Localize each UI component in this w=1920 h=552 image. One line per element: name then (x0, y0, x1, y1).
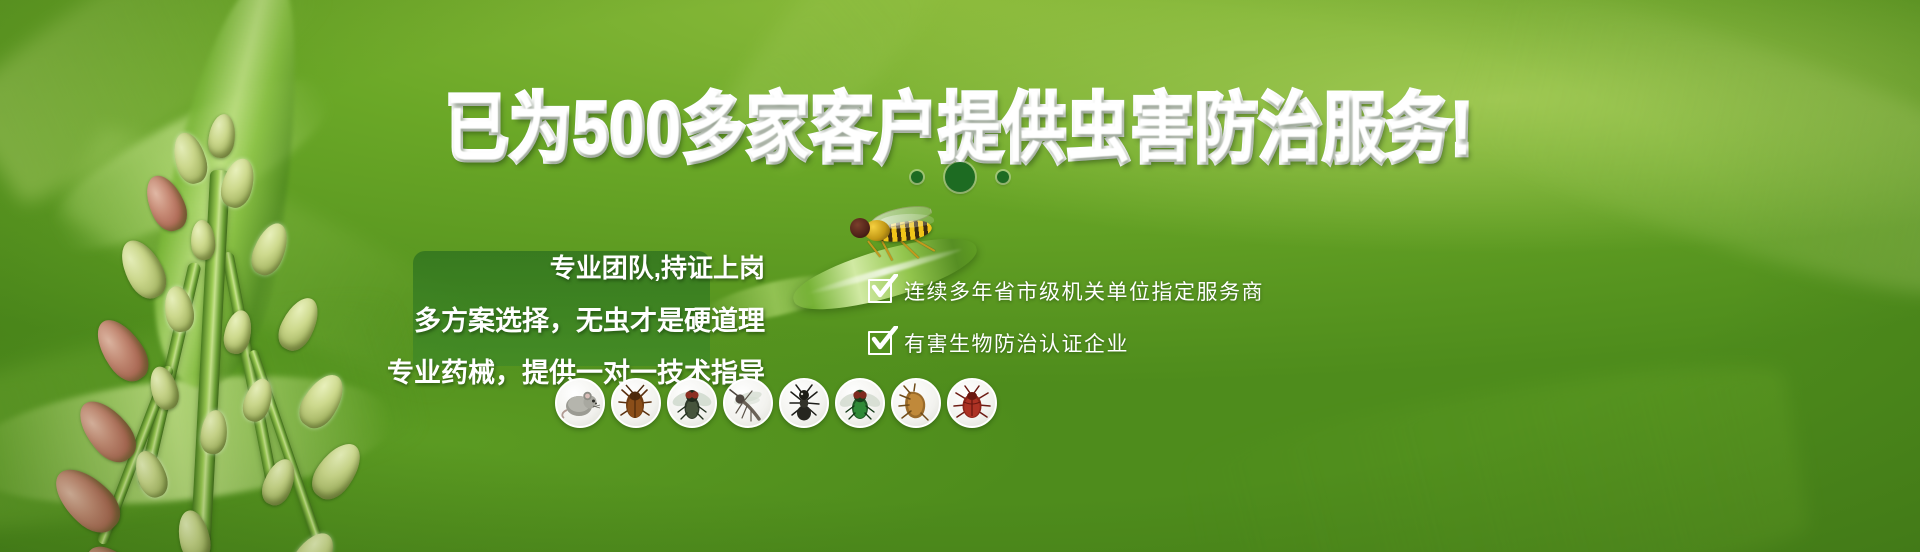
banner-headline-text: 已为500多家客户提供虫害防治服务! (446, 87, 1474, 171)
selling-points-text: 专业团队,持证上岗 多方案选择，无虫才是硬道理 专业药械，提供一对一技术指导 (330, 248, 790, 390)
feature-item-2: 有害生物防治认证企业 (868, 328, 1264, 358)
checkbox-checked-icon (868, 279, 892, 303)
cockroach-icon[interactable] (611, 378, 661, 428)
dot-small-right-icon (997, 171, 1009, 183)
feature-list: 连续多年省市级机关单位指定服务商 有害生物防治认证企业 (868, 276, 1264, 358)
flea-icon[interactable] (891, 378, 941, 428)
feature-label-1: 连续多年省市级机关单位指定服务商 (904, 276, 1264, 306)
ant-icon[interactable] (779, 378, 829, 428)
selling-point-line-1: 专业团队,持证上岗 (550, 248, 765, 285)
mouse-icon[interactable] (555, 378, 605, 428)
selling-point-line-2: 多方案选择，无虫才是硬道理 (414, 299, 765, 338)
banner-headline: 已为500多家客户提供虫害防治服务! (29, 70, 1891, 177)
mosquito-icon[interactable] (723, 378, 773, 428)
feature-item-1: 连续多年省市级机关单位指定服务商 (868, 276, 1264, 306)
dot-large-center-icon (945, 162, 975, 192)
pest-control-banner: 已为500多家客户提供虫害防治服务! 专业团队,持证上岗 多方案选择，无虫才是硬… (0, 0, 1920, 552)
pest-icon-row (555, 378, 997, 428)
blowfly-icon[interactable] (835, 378, 885, 428)
decorative-dots (0, 162, 1920, 192)
fly-icon[interactable] (667, 378, 717, 428)
checkbox-checked-icon (868, 331, 892, 355)
hoverfly-icon (848, 198, 958, 260)
dot-small-left-icon (911, 171, 923, 183)
feature-label-2: 有害生物防治认证企业 (904, 328, 1129, 358)
bedbug-icon[interactable] (947, 378, 997, 428)
